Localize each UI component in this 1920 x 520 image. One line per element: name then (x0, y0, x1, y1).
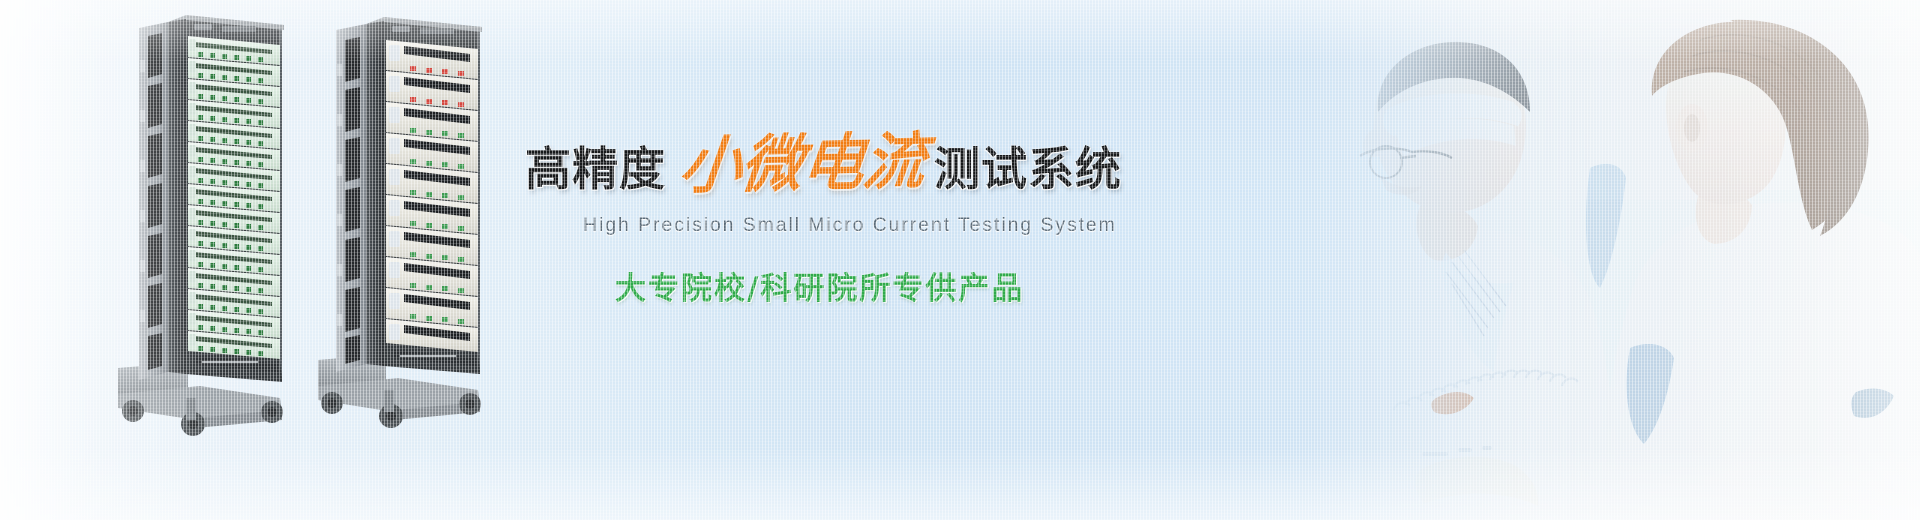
instrument-racks-illustration (0, 0, 520, 520)
headline-lead: 高精度 (525, 146, 666, 192)
headline-highlight: 小微电流 (677, 132, 927, 194)
banner-tagline-chinese: 大专院校/科研院所专供产品 (525, 263, 1305, 308)
product-banner: 高精度 小微电流 测试系统 High Precision Small Micro… (0, 0, 1920, 520)
rack-right (318, 17, 482, 428)
banner-subtitle-english: High Precision Small Micro Current Testi… (525, 214, 1305, 237)
banner-headline: 高精度 小微电流 测试系统 (525, 128, 1305, 192)
rack-left (118, 15, 284, 436)
scientists-photo (1300, 0, 1920, 520)
banner-copy: 高精度 小微电流 测试系统 High Precision Small Micro… (525, 128, 1305, 308)
headline-trail: 测试系统 (934, 146, 1122, 192)
